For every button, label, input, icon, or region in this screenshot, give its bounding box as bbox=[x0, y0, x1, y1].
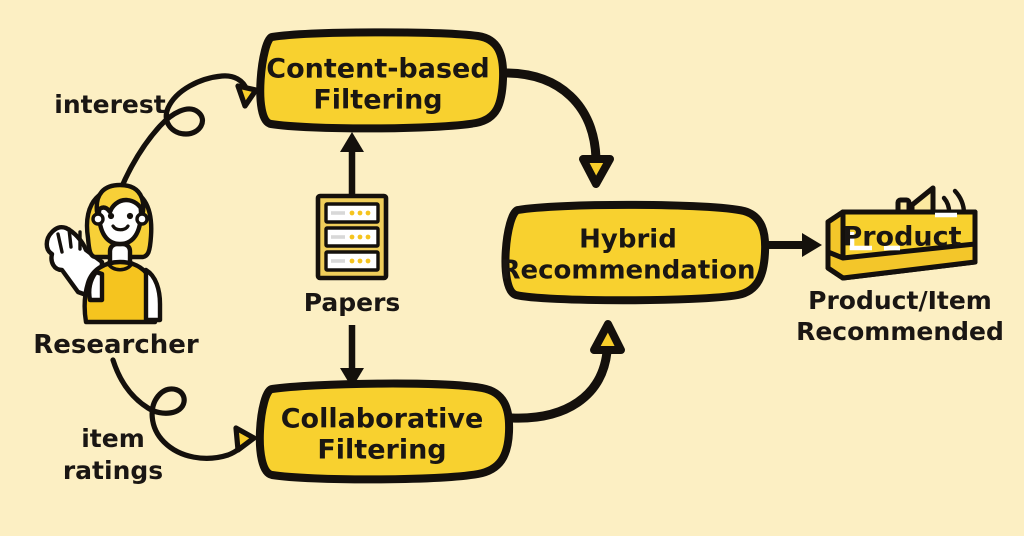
product-label: Product bbox=[842, 222, 961, 253]
node-content-based-filtering[interactable]: Content-based Filtering bbox=[260, 32, 503, 128]
researcher-caption: Researcher bbox=[33, 330, 199, 360]
papers-row-3-dot-1 bbox=[350, 259, 355, 264]
papers-row-1-dot-3 bbox=[366, 211, 371, 216]
papers-row-1-dot-2 bbox=[358, 211, 363, 216]
diagram-stage: interest item ratings bbox=[0, 0, 1024, 536]
researcher-ear-right bbox=[137, 214, 147, 224]
papers-row-2-dot-1 bbox=[350, 235, 355, 240]
researcher-arm-left bbox=[89, 272, 102, 300]
collaborative-label-line1: Collaborative bbox=[281, 404, 484, 435]
flow-diagram-canvas: interest item ratings bbox=[0, 0, 1024, 536]
collaborative-label-line2: Filtering bbox=[317, 435, 446, 466]
edge-label-ratings: ratings bbox=[63, 456, 163, 485]
papers-stack-icon bbox=[318, 196, 386, 278]
researcher-ear-left bbox=[93, 214, 103, 224]
hybrid-label-line1: Hybrid bbox=[579, 225, 677, 255]
edge-label-interest: interest bbox=[54, 90, 165, 119]
product-caption-line2: Recommended bbox=[796, 317, 1004, 346]
edge-label-item: item bbox=[81, 424, 145, 453]
content-based-label-line1: Content-based bbox=[266, 54, 489, 85]
papers-row-2-dot-3 bbox=[366, 235, 371, 240]
papers-row-1-dot-1 bbox=[350, 211, 355, 216]
content-based-label-line2: Filtering bbox=[313, 85, 442, 116]
papers-row-2-dot-2 bbox=[358, 235, 363, 240]
researcher-eye-left bbox=[108, 213, 114, 219]
papers-row-3-dot-3 bbox=[366, 259, 371, 264]
node-hybrid-recommendation[interactable]: Hybrid Recommendation bbox=[500, 205, 765, 300]
papers-caption: Papers bbox=[304, 288, 401, 317]
product-caption-line1: Product/Item bbox=[808, 286, 992, 315]
papers-row-3-dot-2 bbox=[358, 259, 363, 264]
node-collaborative-filtering[interactable]: Collaborative Filtering bbox=[260, 384, 509, 480]
researcher-eye-right bbox=[127, 213, 133, 219]
hybrid-label-line2: Recommendation bbox=[500, 256, 755, 286]
